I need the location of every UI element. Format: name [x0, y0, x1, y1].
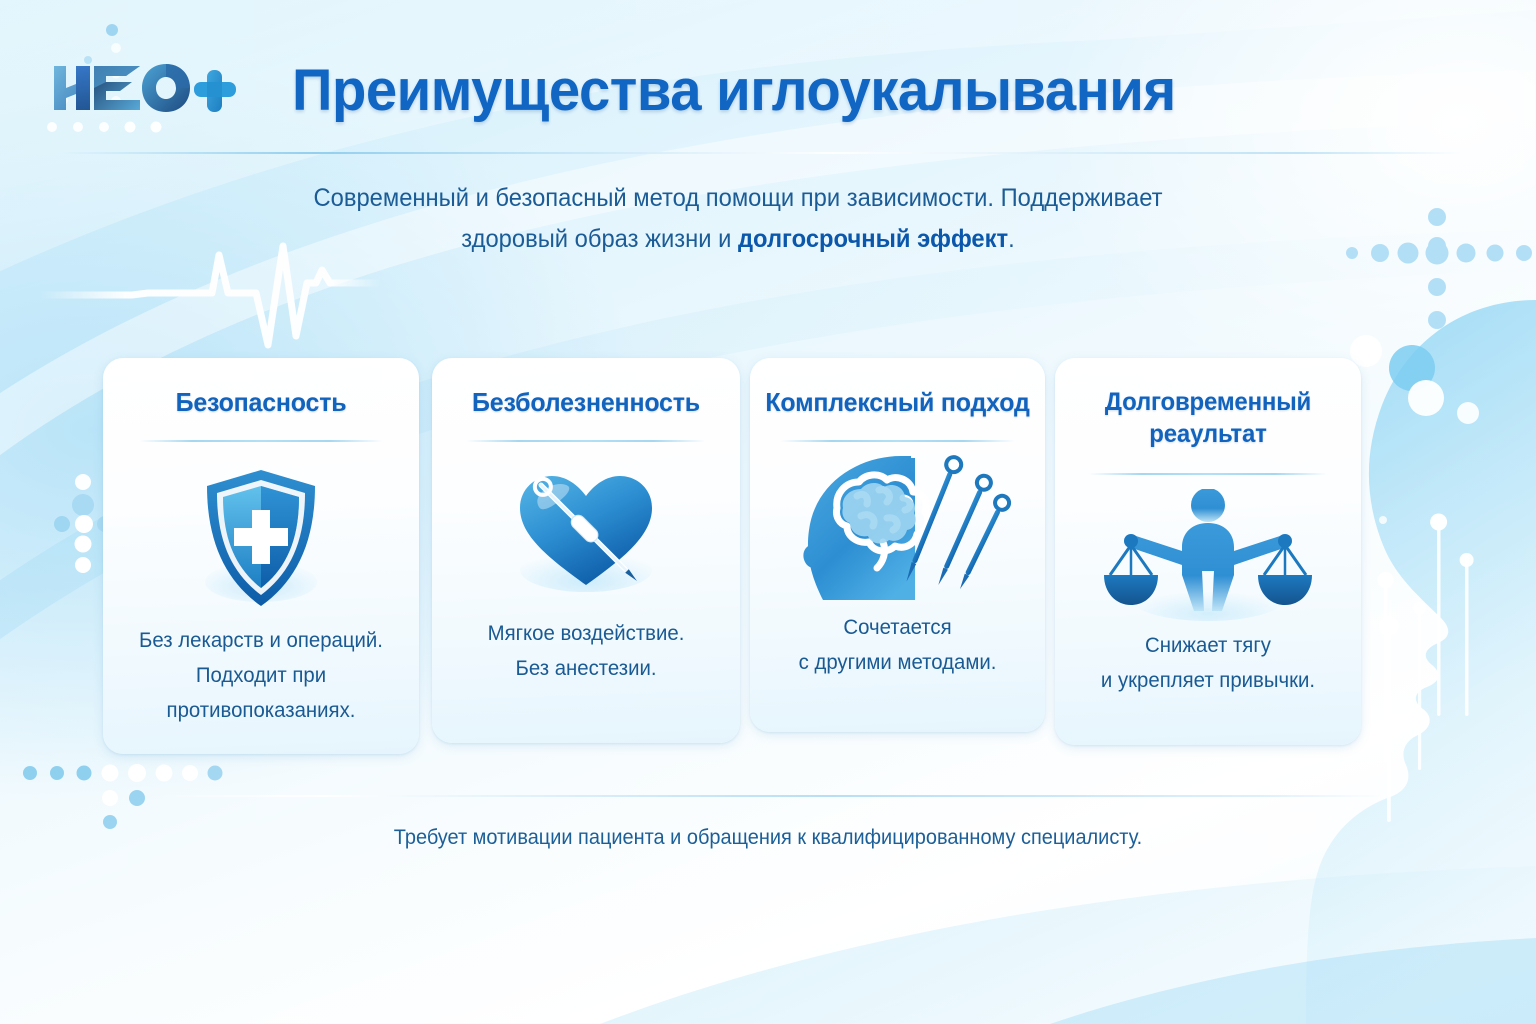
card-divider — [1089, 473, 1327, 475]
footer-note: Требует мотивации пациента и обращения к… — [38, 823, 1497, 853]
card-body: Без лекарств и операций. Подходит при пр… — [117, 623, 404, 728]
infographic-slide: Преимущества иглоукалывания Современный … — [0, 0, 1536, 1024]
card-body-line: Без лекарств и операций. — [139, 629, 383, 652]
dotted-cross-icon-top-right — [1346, 208, 1532, 329]
subtitle-highlight: долгосрочный эффект — [738, 225, 1008, 253]
header: Преимущества иглоукалывания — [0, 0, 1536, 153]
card-body-line: противопоказаниях. — [167, 699, 356, 722]
card-title-line-2: реаультат — [1149, 420, 1266, 448]
subtitle: Современный и безопасный метод помощи пр… — [292, 178, 1185, 260]
subtitle-line-2-suffix: . — [1008, 225, 1015, 253]
card-safety[interactable]: Безопасность — [103, 358, 419, 754]
card-body: Сочетается с другими методами. — [764, 610, 1031, 680]
ecg-pulse-line — [40, 246, 380, 345]
card-body: Мягкое воздействие. Без анестезии. — [446, 616, 725, 686]
brand-logo[interactable] — [52, 52, 252, 124]
card-title: Безболезненность — [446, 386, 726, 418]
head-brain-needles-icon — [750, 446, 1045, 606]
card-body: Снижает тягу и укрепляет привычки. — [1069, 628, 1346, 698]
card-painless[interactable]: Безболезненность — [432, 358, 740, 743]
subtitle-line-2-prefix: здоровый образ жизни и — [461, 225, 738, 253]
card-long-term-result[interactable]: Долговременный реаультат — [1055, 358, 1361, 745]
card-complex-approach[interactable]: Комплексный подход — [750, 358, 1045, 732]
card-body-line: Снижает тягу — [1145, 634, 1271, 657]
card-divider — [780, 440, 1015, 442]
card-divider — [466, 440, 706, 442]
subtitle-line-1: Современный и безопасный метод помощи пр… — [313, 184, 1162, 212]
card-title-line-1: Долговременный — [1105, 388, 1311, 416]
shield-cross-icon — [103, 454, 419, 624]
header-divider — [62, 152, 1462, 154]
card-title: Долговременный реаультат — [1069, 386, 1347, 450]
page-title: Преимущества иглоукалывания — [292, 56, 1176, 126]
card-title: Безопасность — [117, 386, 405, 418]
card-body-line: Подходит при — [196, 664, 326, 687]
person-scales-icon — [1055, 482, 1361, 632]
card-body-line: Сочетается — [843, 616, 951, 639]
card-body-line: и укрепляет привычки. — [1101, 669, 1315, 692]
card-body-line: Без анестезии. — [515, 657, 656, 680]
card-divider — [139, 440, 383, 442]
heart-needle-icon — [432, 450, 740, 615]
card-body-line: с другими методами. — [799, 651, 997, 674]
footer-divider — [152, 795, 1382, 797]
card-title: Комплексный подход — [764, 386, 1032, 418]
card-body-line: Мягкое воздействие. — [488, 622, 685, 645]
benefit-cards: Безопасность — [0, 358, 1536, 758]
